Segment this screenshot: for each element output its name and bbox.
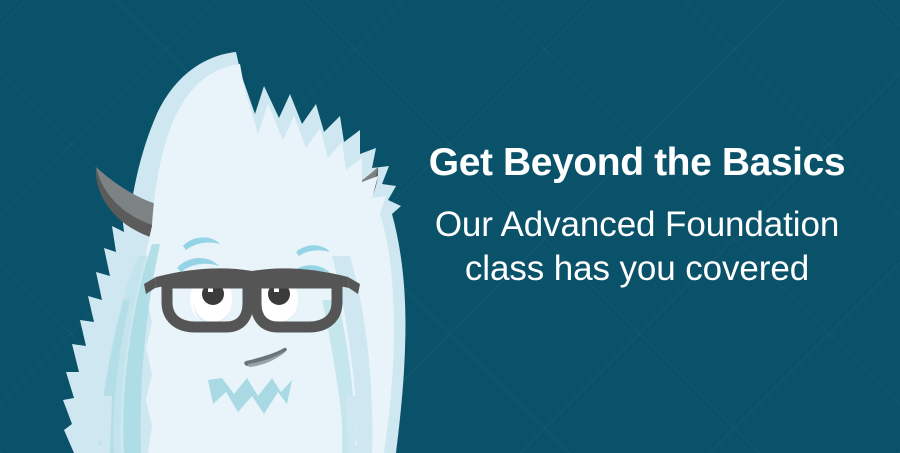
subtitle-line-1: Our Advanced Foundation	[398, 203, 876, 247]
yeti-mascot-illustration	[0, 0, 460, 453]
banner-subtitle: Our Advanced Foundation class has you co…	[398, 203, 876, 291]
page-title: Get Beyond the Basics	[398, 140, 876, 186]
banner-text-block: Get Beyond the Basics Our Advanced Found…	[398, 140, 876, 291]
subtitle-line-2: class has you covered	[398, 247, 876, 291]
promo-banner: Get Beyond the Basics Our Advanced Found…	[0, 0, 900, 453]
